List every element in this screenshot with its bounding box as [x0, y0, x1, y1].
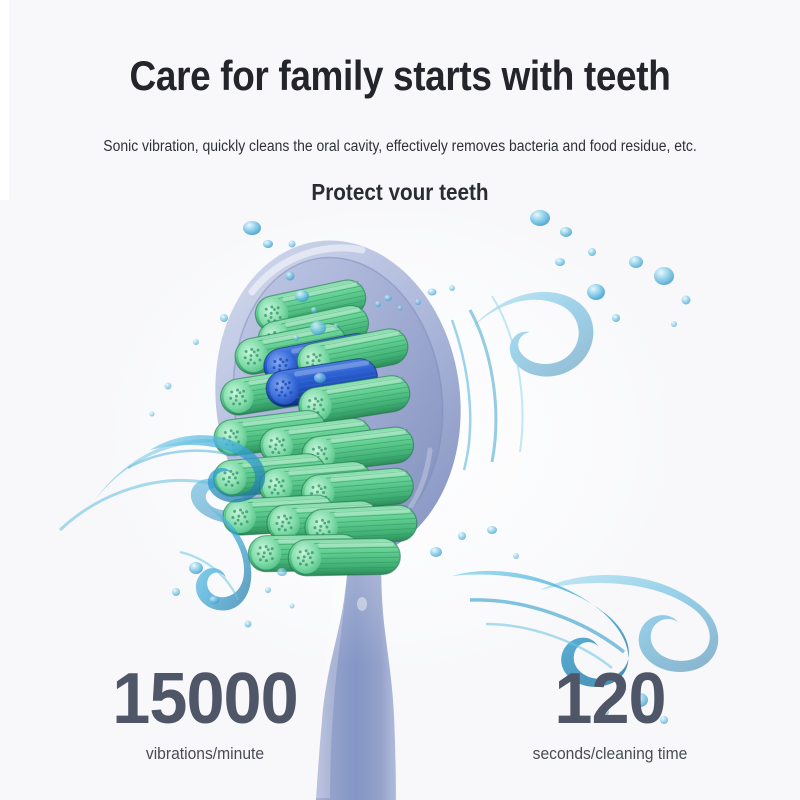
stat-value: 15000	[67, 658, 343, 740]
stat-vibration-rate: 15000 vibrations/minute	[60, 658, 350, 766]
stat-label: seconds/cleaning time	[481, 742, 739, 766]
page-subtitle: Sonic vibration, quickly cleans the oral…	[40, 136, 760, 158]
stats-row: 15000 vibrations/minute 120 seconds/clea…	[0, 658, 800, 788]
stat-label: vibrations/minute	[72, 742, 339, 766]
product-promo-poster: Care for family starts with teeth Sonic …	[0, 0, 800, 800]
page-title: Care for family starts with teeth	[48, 50, 752, 102]
stat-cleaning-time: 120 seconds/cleaning time	[470, 658, 750, 766]
product-hero-image	[0, 200, 800, 680]
stat-value: 120	[477, 658, 743, 740]
